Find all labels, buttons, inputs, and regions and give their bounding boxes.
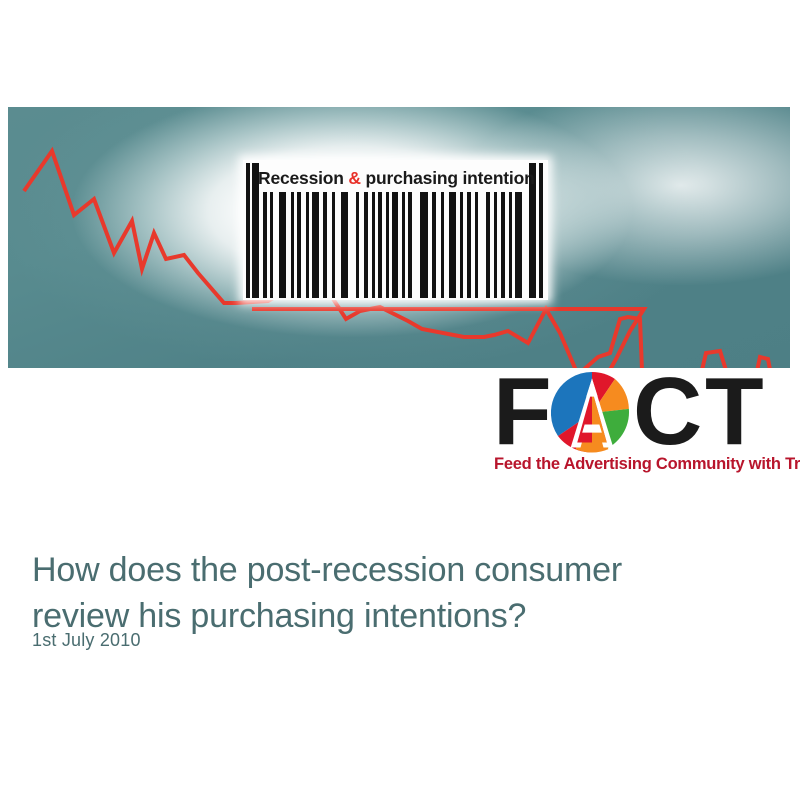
- fact-logo: F C T Feed the Advertising Community wit…: [493, 370, 791, 478]
- page-title-line-1: How does the post-recession consumer: [32, 551, 622, 589]
- fact-logo-letter-f: F: [493, 364, 550, 460]
- barcode-bars: [243, 192, 548, 298]
- fact-logo-tagline: Feed the Advertising Community with Tren…: [494, 455, 800, 474]
- banner-title: Recession & purchasing intention: [258, 166, 550, 190]
- banner-title-part1: Recession: [258, 168, 348, 188]
- banner-title-part2: purchasing intention: [361, 168, 535, 188]
- fact-logo-letter-c: C: [633, 364, 700, 460]
- fact-logo-a-mark-icon: [551, 372, 633, 454]
- banner-title-ampersand: &: [348, 168, 360, 188]
- page-title: How does the post-recession consumer rev…: [32, 547, 772, 639]
- fact-logo-letter-t: T: [705, 364, 762, 460]
- document-date: 1st July 2010: [32, 630, 141, 651]
